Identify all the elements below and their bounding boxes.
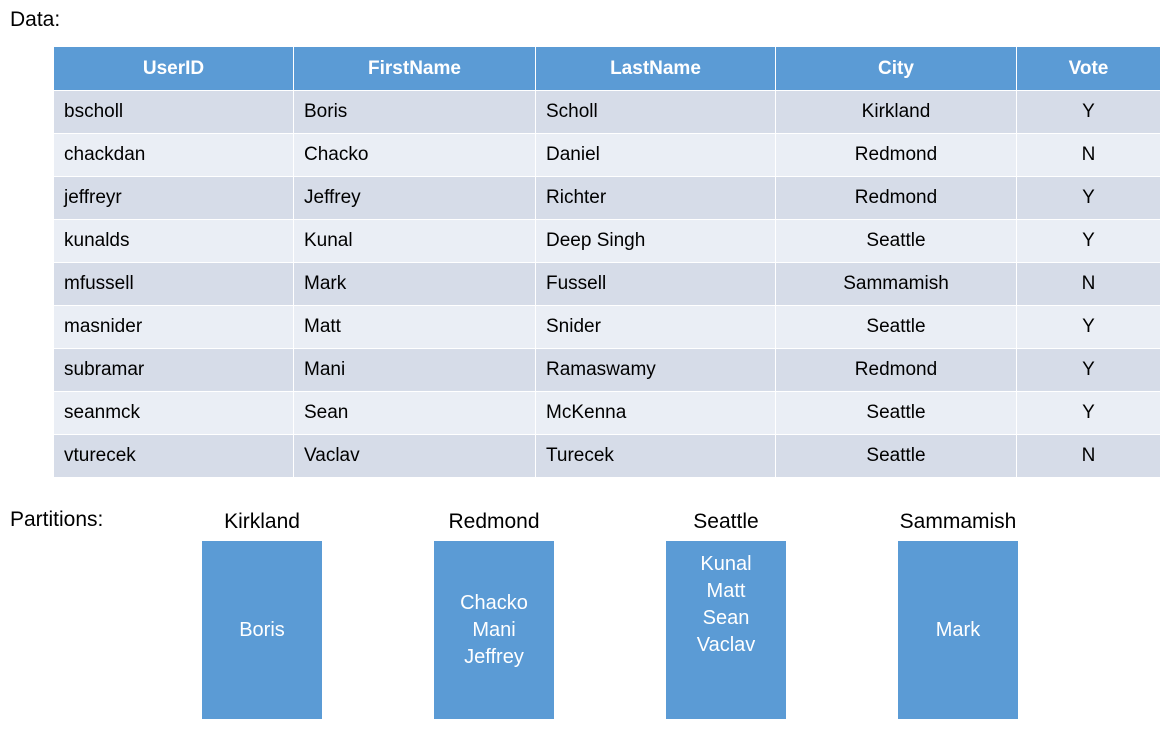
partition-member: Matt (707, 578, 746, 605)
partition-box-kirkland[interactable]: Boris (202, 541, 322, 719)
partitions-area: Kirkland Boris Redmond ChackoManiJeffrey… (0, 0, 1174, 733)
partition-title-seattle: Seattle (646, 508, 806, 541)
partition-member: Jeffrey (464, 644, 524, 671)
partition-box-sammamish[interactable]: Mark (898, 541, 1018, 719)
slide-canvas: Data: UserID FirstName LastName City Vot… (0, 0, 1174, 733)
partition-seattle: Seattle KunalMattSeanVaclav (646, 508, 806, 719)
partition-member: Boris (239, 617, 285, 644)
partition-member: Kunal (700, 551, 751, 578)
partition-title-kirkland: Kirkland (182, 508, 342, 541)
partition-member: Sean (703, 605, 750, 632)
partition-title-sammamish: Sammamish (878, 508, 1038, 541)
partition-member: Vaclav (697, 632, 756, 659)
partition-box-seattle[interactable]: KunalMattSeanVaclav (666, 541, 786, 719)
partition-member: Mani (472, 617, 515, 644)
partition-box-redmond[interactable]: ChackoManiJeffrey (434, 541, 554, 719)
partition-member: Mark (936, 617, 980, 644)
partition-sammamish: Sammamish Mark (878, 508, 1038, 719)
partition-redmond: Redmond ChackoManiJeffrey (414, 508, 574, 719)
partition-member: Chacko (460, 590, 528, 617)
partition-title-redmond: Redmond (414, 508, 574, 541)
partition-kirkland: Kirkland Boris (182, 508, 342, 719)
